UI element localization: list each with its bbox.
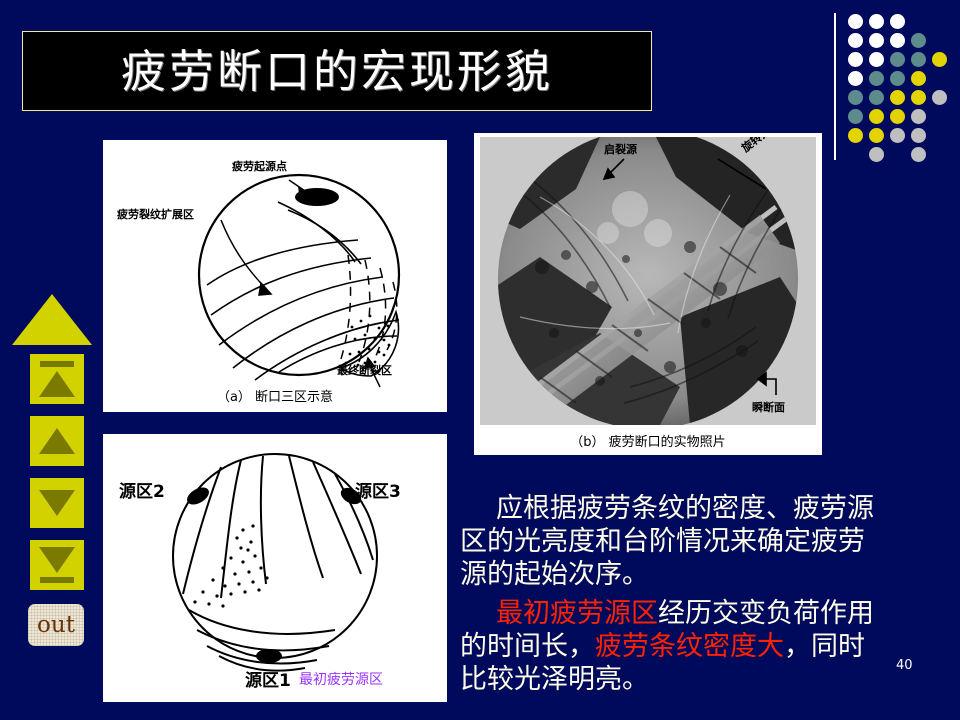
bar-icon bbox=[40, 361, 74, 367]
body-highlight-initial-source: 最初疲劳源区 bbox=[496, 598, 658, 629]
decorative-dot bbox=[911, 71, 926, 86]
decorative-dot bbox=[890, 128, 905, 143]
triangle-up-large-icon[interactable] bbox=[12, 294, 92, 345]
out-button-label: out bbox=[37, 614, 75, 637]
body-copy: 应根据疲劳条纹的密度、疲劳源区的光亮度和台阶情况来确定疲劳源的起始次序。 最初疲… bbox=[460, 492, 880, 702]
decorative-dot bbox=[911, 52, 926, 67]
decorative-dot bbox=[848, 109, 863, 124]
figure-c-label-zone3: 源区3 bbox=[355, 477, 401, 502]
decorative-dot bbox=[869, 90, 884, 105]
vertical-rule bbox=[834, 13, 836, 160]
navigation-rail: out bbox=[10, 292, 96, 660]
decorative-dot bbox=[932, 90, 947, 105]
decorative-dot bbox=[890, 33, 905, 48]
figure-a-diagram bbox=[103, 140, 447, 412]
body-paragraph-1-text: 应根据疲劳条纹的密度、疲劳源区的光亮度和台阶情况来确定疲劳源的起始次序。 bbox=[460, 493, 874, 590]
decorative-dot bbox=[869, 109, 884, 124]
figure-a-label-origin: 疲劳起源点 bbox=[232, 158, 287, 174]
decorative-dot bbox=[911, 109, 926, 124]
decorative-dot bbox=[890, 71, 905, 86]
body-paragraph-1: 应根据疲劳条纹的密度、疲劳源区的光亮度和台阶情况来确定疲劳源的起始次序。 bbox=[460, 492, 880, 591]
decorative-dot bbox=[869, 147, 884, 162]
triangle-down-icon bbox=[39, 547, 75, 573]
triangle-up-icon bbox=[39, 371, 75, 397]
page-title: 疲劳断口的宏现形貌 bbox=[121, 49, 553, 94]
figure-c-panel: 源区2 源区3 源区1 最初疲劳源区 bbox=[103, 434, 447, 702]
decorative-dot bbox=[890, 109, 905, 124]
decorative-dot bbox=[869, 128, 884, 143]
decorative-dot bbox=[890, 52, 905, 67]
fracture-micrograph: 启裂源 旋转方向 瞬断面 bbox=[480, 137, 816, 425]
figure-c-label-zone2: 源区2 bbox=[119, 477, 165, 502]
triangle-up-icon bbox=[39, 428, 75, 454]
decorative-dot bbox=[869, 52, 884, 67]
decorative-dot bbox=[848, 90, 863, 105]
body-paragraph-2: 最初疲劳源区经历交变负荷作用的时间长，疲劳条纹密度大，同时比较光泽明亮。 bbox=[460, 597, 880, 696]
figure-b-panel: 启裂源 旋转方向 瞬断面 （b） 疲劳断口的实物照片 bbox=[474, 133, 822, 455]
decorative-dot bbox=[848, 52, 863, 67]
figure-b-label-instant-fracture: 瞬断面 bbox=[752, 399, 785, 415]
decorative-dot bbox=[848, 14, 863, 29]
decorative-dot bbox=[869, 71, 884, 86]
slide-canvas: 疲劳断口的宏现形貌 out bbox=[0, 0, 960, 720]
last-slide-button[interactable] bbox=[30, 540, 84, 590]
figure-c-label-initial-source: 最初疲劳源区 bbox=[299, 669, 383, 689]
first-slide-button[interactable] bbox=[30, 354, 84, 404]
decorative-dot bbox=[848, 128, 863, 143]
figure-b-caption: （b） 疲劳断口的实物照片 bbox=[474, 431, 822, 450]
figure-a-label-propagation: 疲劳裂纹扩展区 bbox=[117, 206, 194, 222]
next-slide-button[interactable] bbox=[30, 478, 84, 528]
micrograph-artwork bbox=[480, 137, 816, 425]
figure-c-label-zone1: 源区1 bbox=[245, 666, 291, 691]
page-number: 40 bbox=[896, 658, 913, 673]
slide-title-box: 疲劳断口的宏现形貌 bbox=[22, 31, 652, 111]
decorative-dot bbox=[848, 71, 863, 86]
decorative-dot bbox=[911, 147, 926, 162]
body-highlight-striation-density: 疲劳条纹密度大 bbox=[595, 631, 784, 662]
decorative-dot bbox=[911, 33, 926, 48]
figure-c-diagram bbox=[103, 434, 447, 702]
triangle-down-icon bbox=[39, 490, 75, 516]
out-button[interactable]: out bbox=[28, 604, 84, 646]
decorative-dot bbox=[869, 33, 884, 48]
decorative-dot bbox=[890, 14, 905, 29]
figure-a-caption: （a） 断口三区示意 bbox=[103, 386, 447, 405]
decorative-dot bbox=[848, 33, 863, 48]
decorative-dot bbox=[911, 90, 926, 105]
decorative-dot bbox=[890, 90, 905, 105]
figure-a-panel: 疲劳起源点 疲劳裂纹扩展区 最终断裂区 （a） 断口三区示意 bbox=[103, 140, 447, 412]
figure-a-label-final-fracture: 最终断裂区 bbox=[337, 362, 392, 378]
decorative-dot bbox=[932, 52, 947, 67]
decorative-dot bbox=[911, 128, 926, 143]
bar-icon bbox=[40, 577, 74, 583]
figure-b-label-initiation: 启裂源 bbox=[604, 141, 637, 157]
decorative-dot bbox=[869, 14, 884, 29]
previous-slide-button[interactable] bbox=[30, 416, 84, 466]
decorative-dot-matrix bbox=[848, 14, 956, 164]
